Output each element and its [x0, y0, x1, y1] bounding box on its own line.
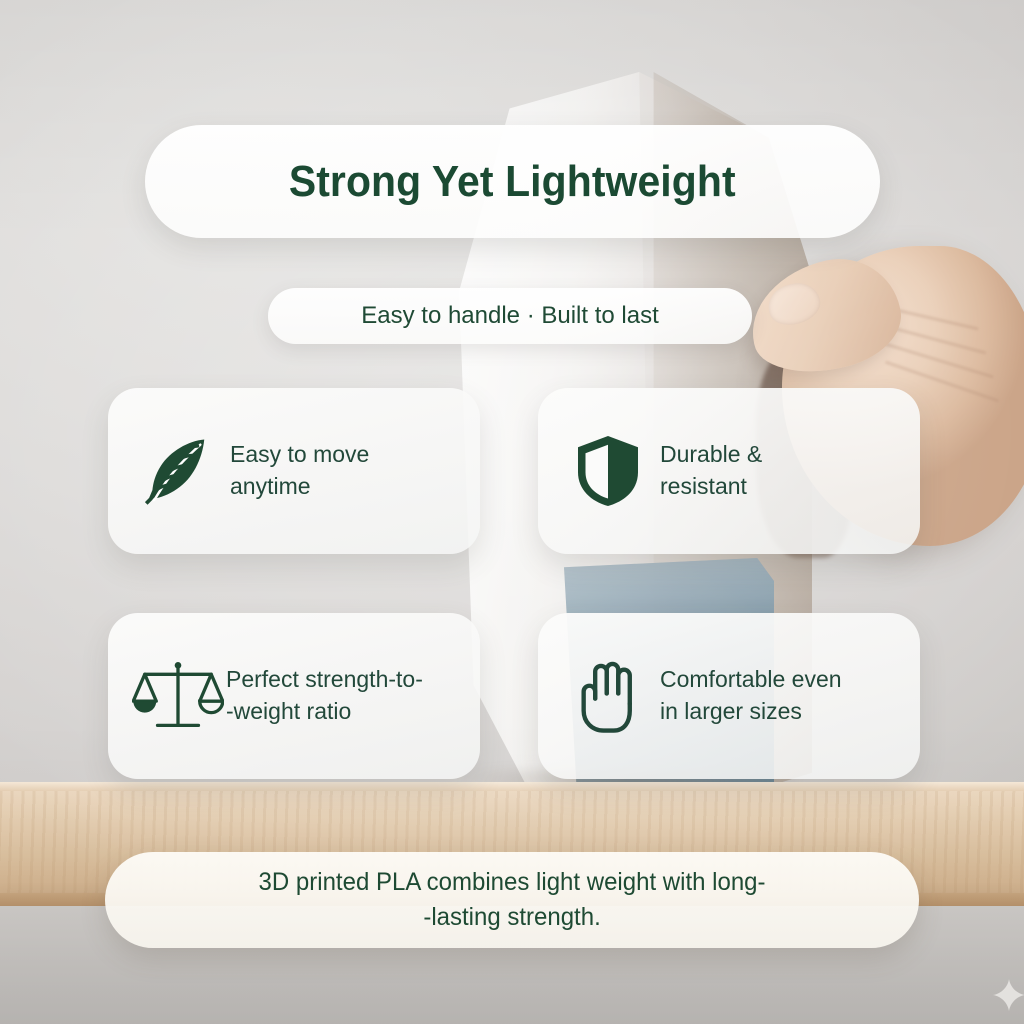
screenshot-canvas: Strong Yet Lightweight Easy to handle · …: [0, 0, 1024, 1024]
footer-pill: 3D printed PLA combines light weight wit…: [105, 852, 919, 948]
page-subtitle: Easy to handle · Built to last: [361, 302, 659, 330]
balance-scale-icon: [126, 644, 230, 748]
footer-text: 3D printed PLA combines light weight wit…: [259, 865, 766, 936]
subtitle-pill: Easy to handle · Built to last: [268, 288, 752, 344]
feature-label: Perfect strength-to- -weight ratio: [226, 664, 423, 727]
feature-card-durable-resistant[interactable]: Durable & resistant: [538, 388, 920, 554]
hand-icon: [556, 644, 660, 748]
title-pill: Strong Yet Lightweight: [145, 125, 880, 238]
feature-card-comfortable[interactable]: Comfortable even in larger sizes: [538, 613, 920, 779]
feature-card-strength-to-weight[interactable]: Perfect strength-to- -weight ratio: [108, 613, 480, 779]
feature-label: Durable & resistant: [660, 439, 762, 502]
feature-label: Easy to move anytime: [230, 439, 369, 502]
feature-label: Comfortable even in larger sizes: [660, 664, 842, 727]
feature-card-easy-to-move[interactable]: Easy to move anytime: [108, 388, 480, 554]
feather-icon: [126, 419, 230, 523]
sparkle-icon: [992, 978, 1024, 1012]
shield-icon: [556, 419, 660, 523]
page-title: Strong Yet Lightweight: [289, 157, 736, 207]
